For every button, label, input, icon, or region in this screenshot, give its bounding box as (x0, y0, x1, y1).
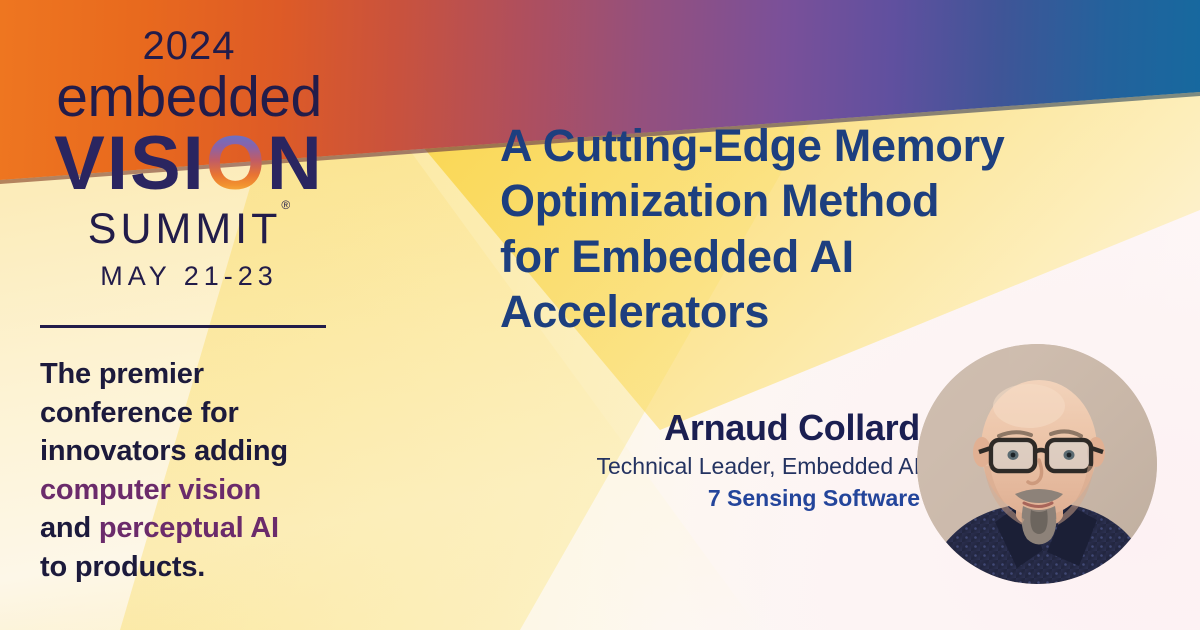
talk-title-line-4: Accelerators (500, 286, 769, 337)
logo-vision-word: VISION (0, 126, 378, 202)
speaker-role: Technical Leader, Embedded AI (470, 452, 920, 482)
speaker-info: Arnaud Collard Technical Leader, Embedde… (470, 408, 920, 514)
tagline-highlight-perceptual-ai: perceptual AI (99, 512, 279, 544)
logo-year: 2024 (0, 26, 378, 66)
talk-title-line-2: Optimization Method (500, 175, 939, 226)
speaker-company: 7 Sensing Software (470, 484, 920, 514)
branding-panel: 2024 embedded VISION SUMMIT® MAY 21-23 T… (0, 0, 400, 630)
tagline-line-5: to products. (40, 551, 205, 583)
talk-title: A Cutting-Edge Memory Optimization Metho… (500, 118, 1170, 339)
tagline-line-1: The premier (40, 358, 204, 390)
logo-vision-gradient-o: O (206, 126, 267, 202)
talk-title-line-3: for Embedded AI (500, 231, 854, 282)
tagline-highlight-computer-vision: computer vision (40, 474, 261, 506)
registered-trademark-icon: ® (281, 198, 290, 212)
tagline-line-2: conference for (40, 397, 239, 429)
speaker-headshot (917, 344, 1157, 584)
logo-summit-word: SUMMIT® (88, 208, 290, 251)
speaker-name: Arnaud Collard (470, 408, 920, 448)
event-logo: 2024 embedded VISION SUMMIT® MAY 21-23 (0, 26, 378, 290)
tagline: The premier conference for innovators ad… (40, 355, 370, 586)
logo-summit-row: SUMMIT® (0, 202, 378, 251)
headshot-illustration (917, 344, 1157, 584)
divider-rule (40, 325, 326, 328)
logo-event-dates: MAY 21-23 (0, 263, 378, 290)
tagline-conjunction: and (40, 512, 99, 544)
logo-summit-text: SUMMIT (88, 205, 282, 253)
logo-embedded-word: embedded (0, 68, 378, 128)
logo-vision-suffix: N (267, 126, 324, 202)
talk-title-line-1: A Cutting-Edge Memory (500, 120, 1005, 171)
event-promo-poster: 2024 embedded VISION SUMMIT® MAY 21-23 T… (0, 0, 1200, 630)
tagline-line-3: innovators adding (40, 435, 288, 467)
logo-vision-prefix: VISI (54, 126, 206, 202)
